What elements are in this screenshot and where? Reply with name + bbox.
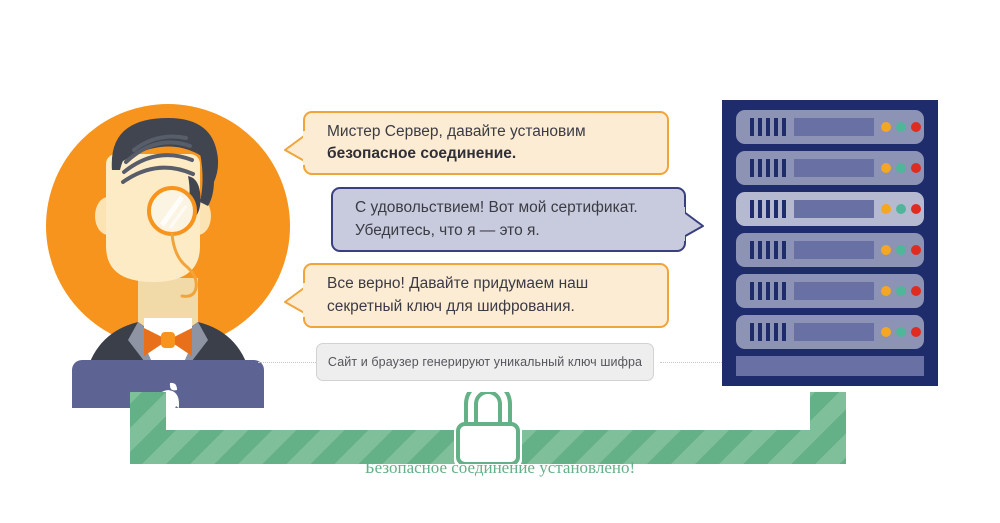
key-generation-note: Сайт и браузер генерируют уникальный клю… — [316, 343, 654, 381]
bubble-3-line-1: Все верно! Давайте придумаем наш — [327, 275, 588, 292]
server-unit — [736, 110, 924, 144]
padlock-icon — [458, 392, 518, 464]
secure-channel-bracket — [118, 392, 858, 464]
secure-connection-caption: Безопасное соединение установлено! — [0, 458, 1000, 478]
bubble-2-line-1: С удовольствием! Вот мой сертификат. — [355, 199, 638, 216]
server-base-bar — [736, 356, 924, 376]
speech-bubble-client-2: Все верно! Давайте придумаем наш секретн… — [303, 263, 669, 328]
character-illustration — [30, 78, 310, 408]
connector-line-right — [660, 362, 722, 363]
server-unit — [736, 151, 924, 185]
bubble-1-line-1: Мистер Сервер, давайте установим — [327, 123, 586, 140]
server-unit — [736, 233, 924, 267]
bubble-3-line-2: секретный ключ для шифрования. — [327, 298, 575, 315]
bubble-2-line-2: Убедитесь, что я — это я. — [355, 222, 540, 239]
server-unit — [736, 192, 924, 226]
connector-line-left — [258, 362, 320, 363]
bubble-1-line-2: безопасное соединение. — [327, 145, 516, 162]
server-unit — [736, 315, 924, 349]
speech-bubble-server-1: С удовольствием! Вот мой сертификат. Убе… — [331, 187, 686, 252]
server-unit — [736, 274, 924, 308]
infographic-canvas: Мистер Сервер, давайте установим безопас… — [0, 0, 1000, 523]
speech-bubble-client-1: Мистер Сервер, давайте установим безопас… — [303, 111, 669, 175]
note-text: Сайт и браузер генерируют уникальный клю… — [328, 355, 642, 369]
server-rack — [722, 100, 938, 386]
